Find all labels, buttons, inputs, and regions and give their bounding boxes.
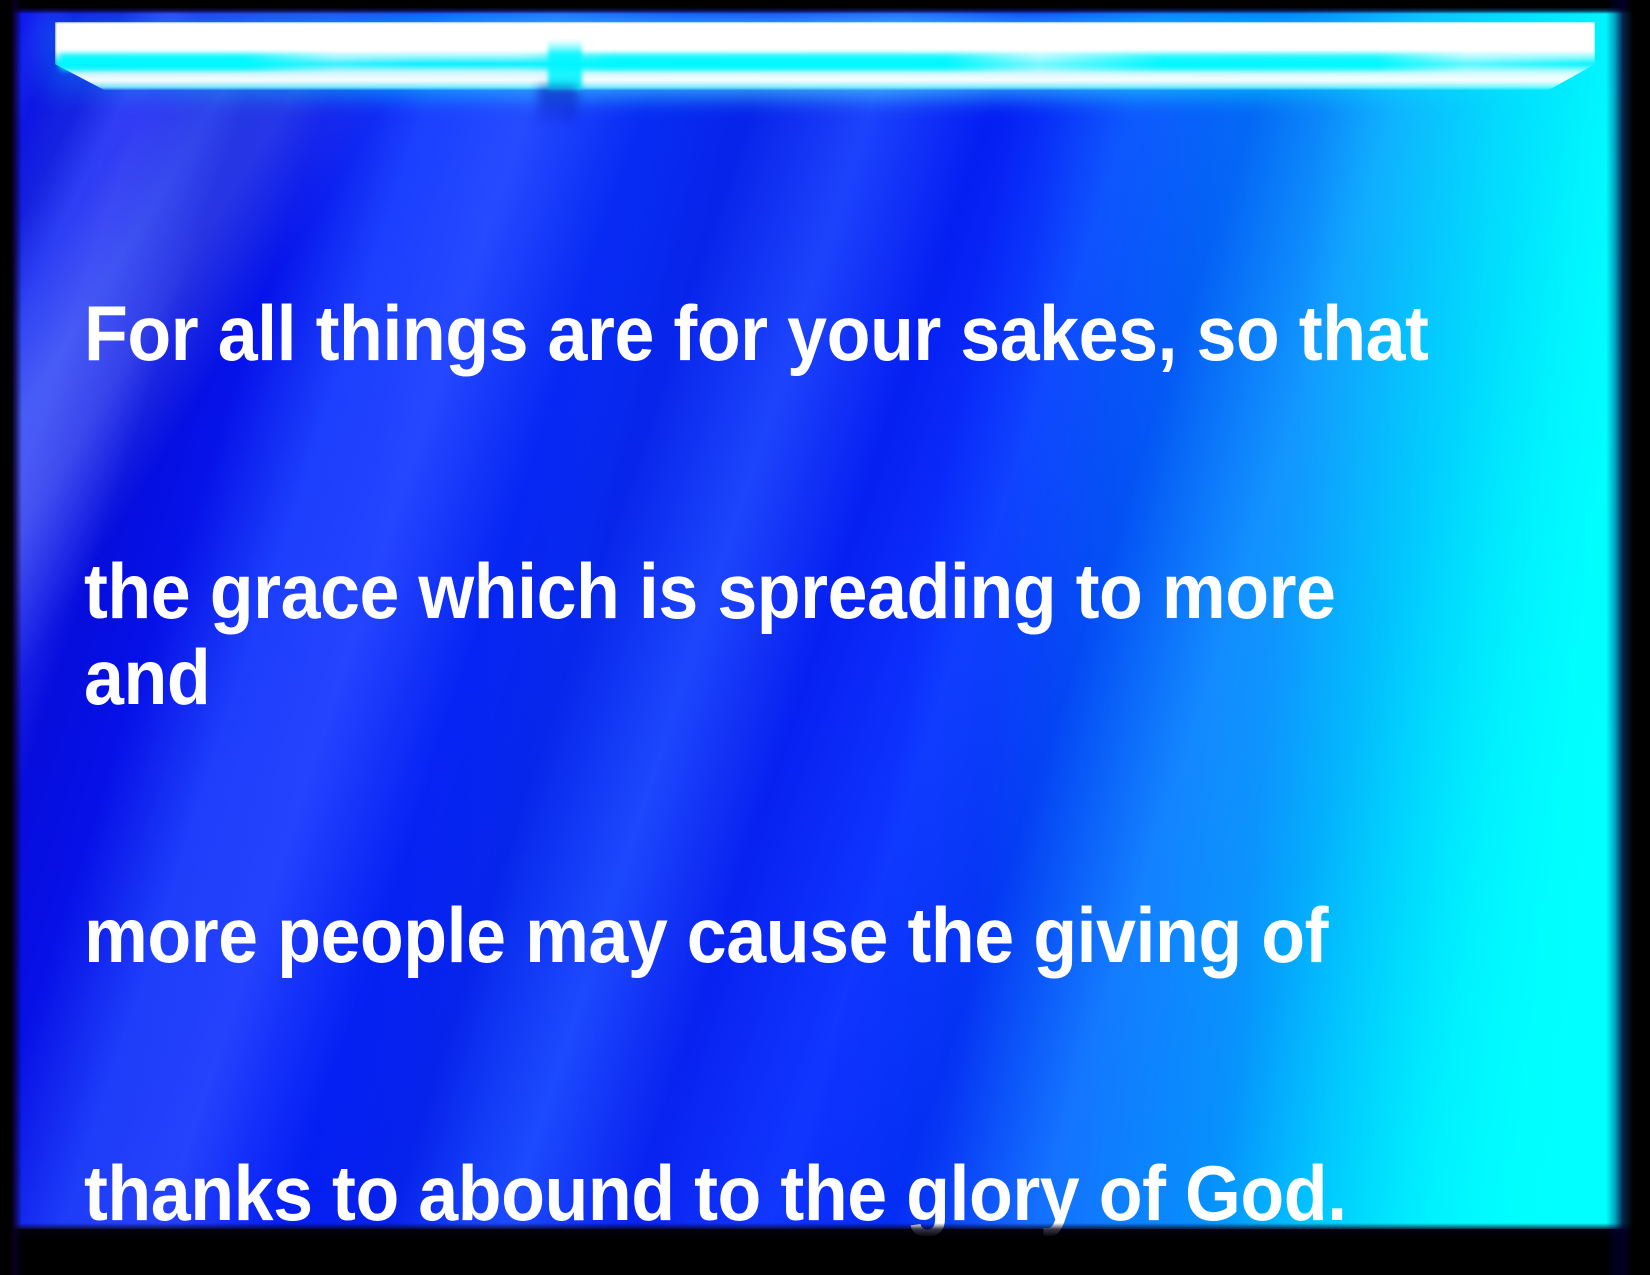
top-glow-notch	[548, 40, 582, 90]
border-bottom	[0, 1223, 1650, 1275]
border-top	[0, 0, 1650, 14]
verse-line-3: more people may cause the giving of	[84, 892, 1455, 978]
border-left	[0, 0, 22, 1275]
verse-slide: For all things are for your sakes, so th…	[0, 0, 1650, 1275]
verse-line-2: the grace which is spreading to more and	[84, 548, 1455, 720]
top-glow-cyan-streak	[60, 54, 1590, 70]
verse-text-block: For all things are for your sakes, so th…	[84, 118, 1455, 1275]
border-right	[1606, 0, 1650, 1275]
verse-line-1: For all things are for your sakes, so th…	[84, 290, 1455, 376]
